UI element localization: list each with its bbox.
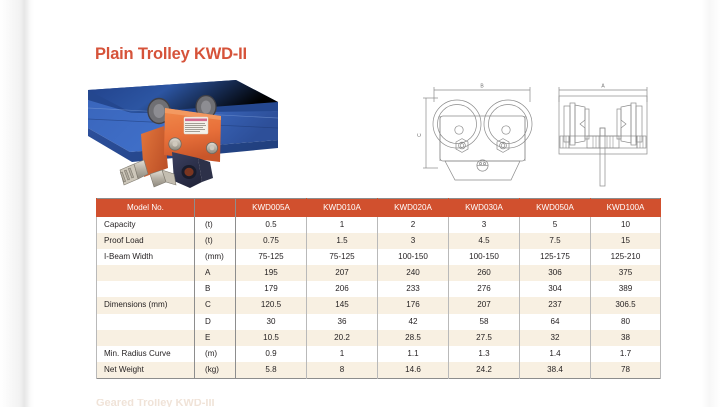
cell: 30 bbox=[236, 314, 307, 330]
cell: 276 bbox=[449, 281, 520, 297]
row-label-dimensions: Dimensions (mm) bbox=[97, 297, 195, 313]
cell: 20.2 bbox=[307, 330, 378, 346]
row-label-dim-a bbox=[97, 265, 195, 281]
cell: 38.4 bbox=[520, 362, 591, 379]
cell: 304 bbox=[520, 281, 591, 297]
cell: 389 bbox=[591, 281, 661, 297]
table-row: Min. Radius Curve (m) 0.9 1 1.1 1.3 1.4 … bbox=[97, 346, 661, 362]
cell: 0.5 bbox=[236, 217, 307, 233]
table-row: E 10.5 20.2 28.5 27.5 32 38 bbox=[97, 330, 661, 346]
cell: 8 bbox=[307, 362, 378, 379]
svg-text:A: A bbox=[601, 84, 605, 90]
cell: 375 bbox=[591, 265, 661, 281]
cell: 145 bbox=[307, 297, 378, 313]
cell: 32 bbox=[520, 330, 591, 346]
row-unit-dim-c: C bbox=[195, 297, 236, 313]
cell: 260 bbox=[449, 265, 520, 281]
col-header-kwd005a: KWD005A bbox=[236, 199, 307, 217]
row-unit-i-beam-width: (mm) bbox=[195, 249, 236, 265]
cell: 179 bbox=[236, 281, 307, 297]
cell: 42 bbox=[378, 314, 449, 330]
page-left-edge-shadow bbox=[0, 0, 34, 407]
cell: 125-175 bbox=[520, 249, 591, 265]
row-label-capacity: Capacity bbox=[97, 217, 195, 233]
cell: 100-150 bbox=[378, 249, 449, 265]
cell: 7.5 bbox=[520, 233, 591, 249]
cell: 14.6 bbox=[378, 362, 449, 379]
row-label-dim-d bbox=[97, 314, 195, 330]
table-row: Capacity (t) 0.5 1 2 3 5 10 bbox=[97, 217, 661, 233]
cell: 24.2 bbox=[449, 362, 520, 379]
col-header-kwd050a: KWD050A bbox=[520, 199, 591, 217]
cell: 15 bbox=[591, 233, 661, 249]
col-header-model-no: Model No. bbox=[97, 199, 195, 217]
page-title: Plain Trolley KWD-II bbox=[95, 45, 247, 64]
cell: 5 bbox=[520, 217, 591, 233]
cell: 58 bbox=[449, 314, 520, 330]
cell: 3 bbox=[378, 233, 449, 249]
svg-text:B: B bbox=[480, 84, 484, 90]
cell: 2 bbox=[378, 217, 449, 233]
cell: 120.5 bbox=[236, 297, 307, 313]
specification-table: Model No. KWD005A KWD010A KWD020A KWD030… bbox=[96, 198, 661, 379]
front-view-group: B C bbox=[417, 84, 532, 181]
row-label-min-radius-curve: Min. Radius Curve bbox=[97, 346, 195, 362]
cell: 10.5 bbox=[236, 330, 307, 346]
row-unit-dim-d: D bbox=[195, 314, 236, 330]
row-unit-proof-load: (t) bbox=[195, 233, 236, 249]
col-header-kwd030a: KWD030A bbox=[449, 199, 520, 217]
cell: 1.5 bbox=[307, 233, 378, 249]
row-unit-net-weight: (kg) bbox=[195, 362, 236, 379]
cell: 75-125 bbox=[236, 249, 307, 265]
cell: 1.1 bbox=[378, 346, 449, 362]
cell: 306.5 bbox=[591, 297, 661, 313]
cell: 100-150 bbox=[449, 249, 520, 265]
cell: 237 bbox=[520, 297, 591, 313]
table-row: Net Weight (kg) 5.8 8 14.6 24.2 38.4 78 bbox=[97, 362, 661, 379]
page-right-edge-shadow bbox=[702, 0, 720, 407]
cell: 3 bbox=[449, 217, 520, 233]
table-row: A 195 207 240 260 306 375 bbox=[97, 265, 661, 281]
cell: 207 bbox=[449, 297, 520, 313]
side-view-group: A bbox=[559, 84, 647, 187]
table-row: I-Beam Width (mm) 75-125 75-125 100-150 … bbox=[97, 249, 661, 265]
next-section-partial-heading-text: Geared Trolley KWD-III bbox=[96, 399, 566, 407]
cell: 27.5 bbox=[449, 330, 520, 346]
cell: 10 bbox=[591, 217, 661, 233]
next-section-partial-heading: Geared Trolley KWD-III bbox=[96, 399, 566, 407]
cell: 5.8 bbox=[236, 362, 307, 379]
cell: 207 bbox=[307, 265, 378, 281]
cell: 306 bbox=[520, 265, 591, 281]
cell: 64 bbox=[520, 314, 591, 330]
col-header-kwd100a: KWD100A bbox=[591, 199, 661, 217]
table-header-row: Model No. KWD005A KWD010A KWD020A KWD030… bbox=[97, 199, 661, 217]
row-label-proof-load: Proof Load bbox=[97, 233, 195, 249]
row-unit-dim-e: E bbox=[195, 330, 236, 346]
row-label-dim-e bbox=[97, 330, 195, 346]
cell: 4.5 bbox=[449, 233, 520, 249]
cell: 75-125 bbox=[307, 249, 378, 265]
col-header-kwd010a: KWD010A bbox=[307, 199, 378, 217]
cell: 28.5 bbox=[378, 330, 449, 346]
cell: 1.7 bbox=[591, 346, 661, 362]
cell: 0.75 bbox=[236, 233, 307, 249]
cell: 125-210 bbox=[591, 249, 661, 265]
row-label-net-weight: Net Weight bbox=[97, 362, 195, 379]
row-unit-capacity: (t) bbox=[195, 217, 236, 233]
cell: 38 bbox=[591, 330, 661, 346]
cell: 1.4 bbox=[520, 346, 591, 362]
row-unit-dim-b: B bbox=[195, 281, 236, 297]
table-row: Proof Load (t) 0.75 1.5 3 4.5 7.5 15 bbox=[97, 233, 661, 249]
table-row: D 30 36 42 58 64 80 bbox=[97, 314, 661, 330]
cell: 80 bbox=[591, 314, 661, 330]
cell: 0.9 bbox=[236, 346, 307, 362]
col-header-kwd020a: KWD020A bbox=[378, 199, 449, 217]
row-unit-min-radius-curve: (m) bbox=[195, 346, 236, 362]
cell: 195 bbox=[236, 265, 307, 281]
cell: 176 bbox=[378, 297, 449, 313]
table-row: Dimensions (mm) C 120.5 145 176 207 237 … bbox=[97, 297, 661, 313]
cell: 206 bbox=[307, 281, 378, 297]
cell: 1 bbox=[307, 217, 378, 233]
product-photo bbox=[86, 78, 278, 190]
svg-text:C: C bbox=[417, 133, 423, 137]
cell: 233 bbox=[378, 281, 449, 297]
cell: 1.3 bbox=[449, 346, 520, 362]
row-label-dim-b bbox=[97, 281, 195, 297]
col-header-unit bbox=[195, 199, 236, 217]
technical-drawings: B C bbox=[412, 76, 674, 196]
table-row: B 179 206 233 276 304 389 bbox=[97, 281, 661, 297]
row-label-i-beam-width: I-Beam Width bbox=[97, 249, 195, 265]
cell: 1 bbox=[307, 346, 378, 362]
product-datasheet-page: Plain Trolley KWD-II bbox=[0, 0, 720, 407]
cell: 78 bbox=[591, 362, 661, 379]
row-unit-dim-a: A bbox=[195, 265, 236, 281]
cell: 240 bbox=[378, 265, 449, 281]
cell: 36 bbox=[307, 314, 378, 330]
